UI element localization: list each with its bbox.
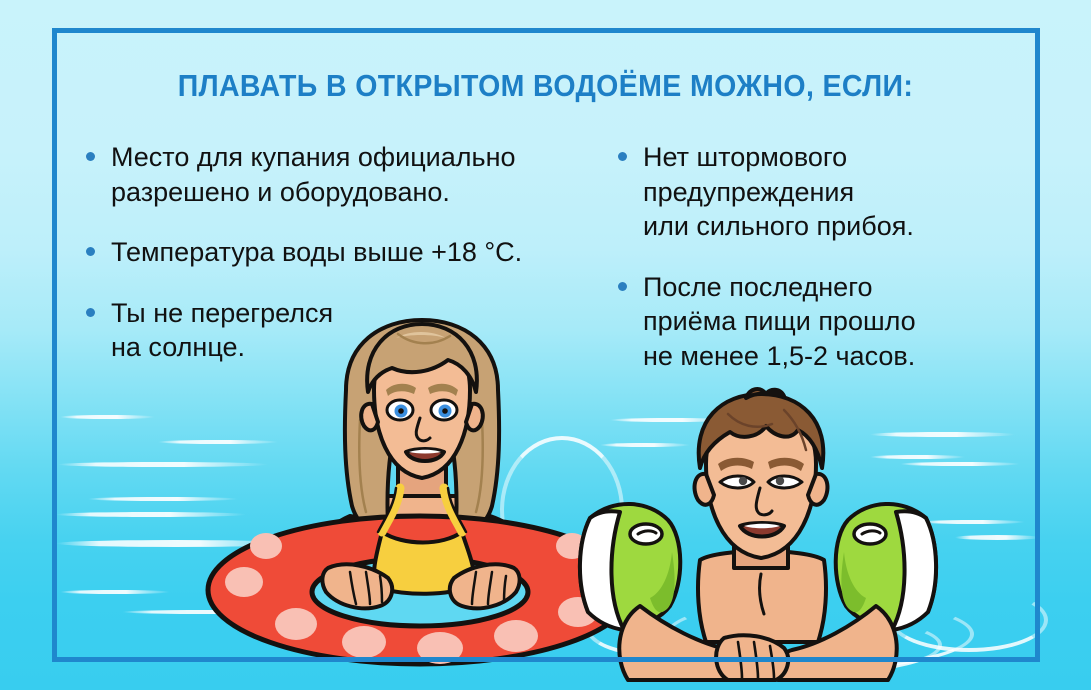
bullet-dot-icon — [86, 152, 95, 161]
list-item: Нет штормового предупреждения или сильно… — [618, 140, 1018, 244]
armband-right-valve — [854, 524, 886, 544]
page-title: ПЛАВАТЬ В ОТКРЫТОМ ВОДОЁМЕ МОЖНО, ЕСЛИ: — [44, 68, 1048, 104]
list-item: После последнего приёма пищи прошло не м… — [618, 270, 1018, 374]
bullet-column-left: Место для купания официально разрешено и… — [86, 140, 606, 391]
girl-pupil-right — [442, 408, 448, 414]
bullet-text: После последнего приёма пищи прошло не м… — [643, 270, 916, 374]
bullet-dot-icon — [618, 282, 627, 291]
list-item: Место для купания официально разрешено и… — [86, 140, 606, 209]
poster: ПЛАВАТЬ В ОТКРЫТОМ ВОДОЁМЕ МОЖНО, ЕСЛИ: … — [0, 0, 1091, 690]
bullet-dot-icon — [86, 247, 95, 256]
bullet-text: Место для купания официально разрешено и… — [111, 140, 516, 209]
bullet-text: Нет штормового предупреждения или сильно… — [643, 140, 914, 244]
list-item: Ты не перегрелся на солнце. — [86, 296, 606, 365]
armband-left-valve — [630, 524, 662, 544]
boy-eye-right — [768, 476, 802, 488]
bullet-dot-icon — [86, 308, 95, 317]
list-item: Температура воды выше +18 °C. — [86, 235, 606, 270]
boy-pupil-right — [776, 477, 784, 485]
girl-pupil-left — [398, 408, 404, 414]
bullet-text: Температура воды выше +18 °C. — [111, 235, 522, 270]
bullet-dot-icon — [618, 152, 627, 161]
boy-eye-left — [720, 476, 754, 488]
boy-hand — [716, 635, 788, 680]
boy-pupil-left — [739, 477, 747, 485]
bullet-text: Ты не перегрелся на солнце. — [111, 296, 333, 365]
bullet-column-right: Нет штормового предупреждения или сильно… — [618, 140, 1018, 399]
boy-illustration — [588, 392, 928, 672]
